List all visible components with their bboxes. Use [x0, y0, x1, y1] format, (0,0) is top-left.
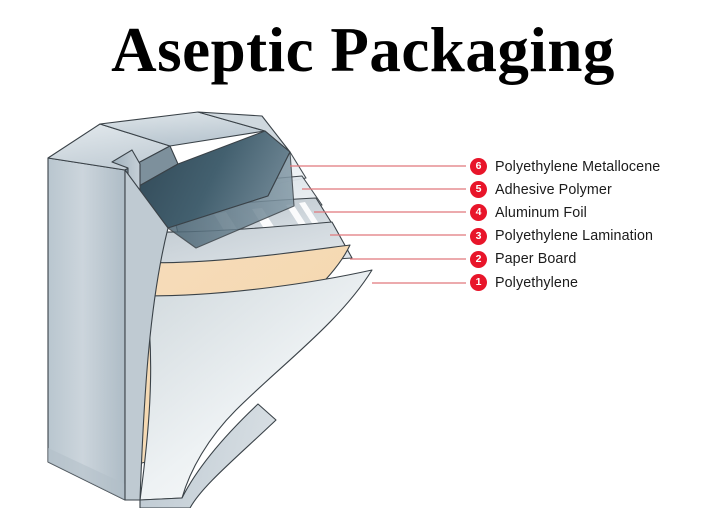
- legend-label-3: Polyethylene Lamination: [495, 228, 653, 244]
- legend-item-4[interactable]: 4 Aluminum Foil: [470, 201, 720, 224]
- legend-item-6[interactable]: 6 Polyethylene Metallocene: [470, 155, 720, 178]
- carton-front-face: [48, 158, 125, 500]
- legend-item-3[interactable]: 3 Polyethylene Lamination: [470, 225, 720, 248]
- legend-badge-6: 6: [470, 158, 487, 175]
- diagram-canvas: Aseptic Packaging: [0, 0, 726, 508]
- legend-label-1: Polyethylene: [495, 275, 578, 291]
- legend-badge-4: 4: [470, 204, 487, 221]
- legend-badge-1: 1: [470, 274, 487, 291]
- layer-legend: 6 Polyethylene Metallocene 5 Adhesive Po…: [470, 155, 720, 294]
- legend-label-6: Polyethylene Metallocene: [495, 159, 660, 175]
- legend-label-4: Aluminum Foil: [495, 205, 587, 221]
- legend-badge-3: 3: [470, 228, 487, 245]
- legend-label-2: Paper Board: [495, 251, 576, 267]
- legend-label-5: Adhesive Polymer: [495, 182, 612, 198]
- legend-item-1[interactable]: 1 Polyethylene: [470, 271, 720, 294]
- legend-badge-2: 2: [470, 251, 487, 268]
- legend-item-5[interactable]: 5 Adhesive Polymer: [470, 178, 720, 201]
- legend-badge-5: 5: [470, 181, 487, 198]
- layer-1-polyethylene: [140, 270, 372, 500]
- legend-item-2[interactable]: 2 Paper Board: [470, 248, 720, 271]
